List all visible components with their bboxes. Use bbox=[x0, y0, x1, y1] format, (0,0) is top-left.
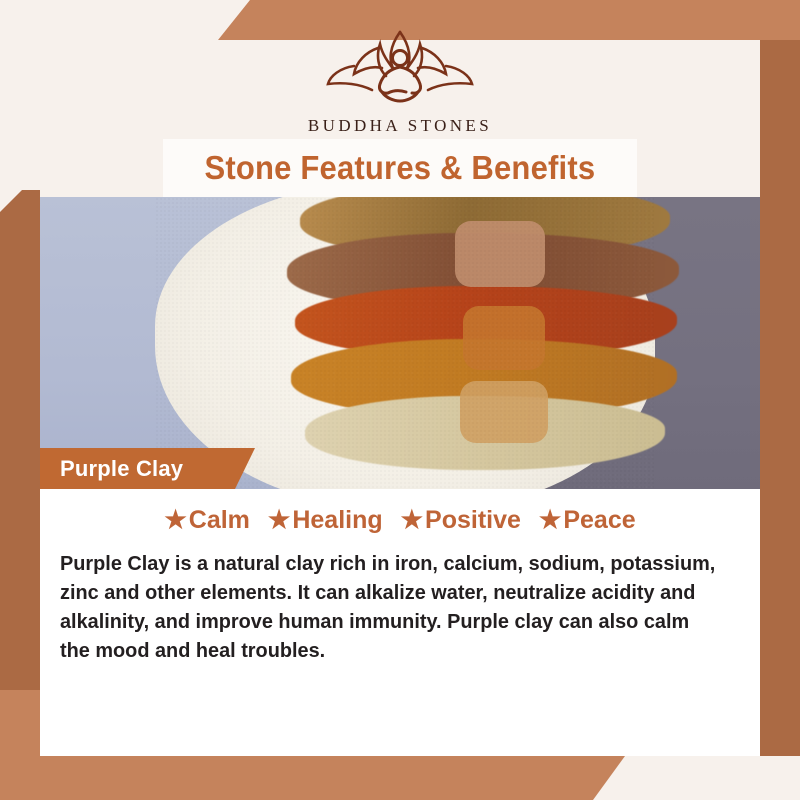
feature-label-peace: Peace bbox=[563, 506, 635, 535]
content-panel: ★ Calm ★ Healing ★ Positive ★ Peace Purp… bbox=[40, 489, 760, 756]
page-title: Stone Features & Benefits bbox=[205, 149, 596, 187]
feature-label-positive: Positive bbox=[425, 506, 521, 535]
star-icon: ★ bbox=[539, 508, 561, 533]
feature-item-calm: ★ Calm bbox=[164, 506, 250, 535]
product-photo bbox=[40, 197, 760, 489]
feature-item-peace: ★ Peace bbox=[539, 506, 636, 535]
frame-band-right bbox=[760, 40, 800, 756]
plate-shape bbox=[155, 197, 655, 489]
brand-name: BUDDHA STONES bbox=[308, 116, 492, 136]
powder-texture-overlay bbox=[155, 197, 655, 489]
star-icon: ★ bbox=[164, 508, 186, 533]
star-icon: ★ bbox=[401, 508, 423, 533]
product-tag-label: Purple Clay bbox=[60, 456, 183, 482]
star-icon: ★ bbox=[268, 508, 290, 533]
feature-label-calm: Calm bbox=[189, 506, 250, 535]
feature-item-positive: ★ Positive bbox=[401, 506, 521, 535]
product-tag: Purple Clay bbox=[40, 448, 255, 489]
poster-canvas: BUDDHA STONES Stone Features & Benefits … bbox=[0, 0, 800, 800]
lotus-meditation-icon bbox=[320, 22, 480, 110]
feature-label-healing: Healing bbox=[292, 506, 382, 535]
product-description: Purple Clay is a natural clay rich in ir… bbox=[60, 549, 720, 665]
feature-list: ★ Calm ★ Healing ★ Positive ★ Peace bbox=[40, 489, 760, 535]
title-banner: Stone Features & Benefits bbox=[163, 139, 637, 197]
frame-band-left bbox=[0, 190, 40, 756]
feature-item-healing: ★ Healing bbox=[268, 506, 383, 535]
brand-logo: BUDDHA STONES bbox=[0, 22, 800, 136]
frame-band-bottom bbox=[0, 756, 625, 800]
